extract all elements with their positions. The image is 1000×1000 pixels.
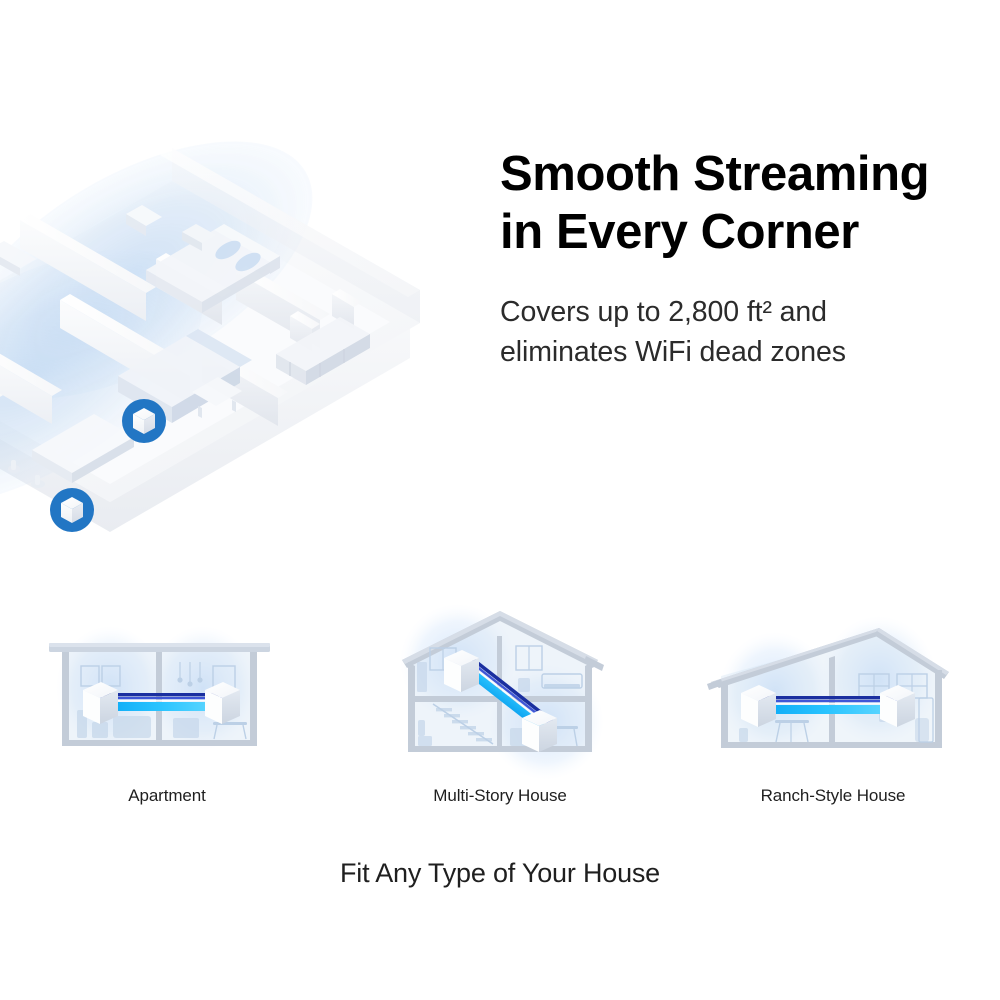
mesh-unit xyxy=(444,650,479,692)
mesh-unit xyxy=(741,685,776,727)
ranch-style-illustration xyxy=(683,600,983,780)
floor-plan-illustration xyxy=(0,150,500,490)
mesh-unit xyxy=(83,682,118,724)
hero-section: Smooth Streaming in Every Corner Covers … xyxy=(0,0,1000,500)
mesh-unit xyxy=(880,685,915,727)
house-type-label: Apartment xyxy=(128,786,206,806)
mesh-unit-badge xyxy=(122,399,166,443)
hero-title: Smooth Streaming in Every Corner xyxy=(500,146,980,262)
hero-text-block: Smooth Streaming in Every Corner Covers … xyxy=(500,146,980,373)
house-type-label: Ranch-Style House xyxy=(761,786,906,806)
house-type-card-multi-story: Multi-Story House xyxy=(334,600,667,806)
hero-subtitle: Covers up to 2,800 ft² and eliminates Wi… xyxy=(500,292,980,373)
mesh-link-beam xyxy=(759,696,897,714)
house-type-card-ranch-style: Ranch-Style House xyxy=(667,600,1000,806)
footer-caption: Fit Any Type of Your House xyxy=(0,858,1000,889)
mesh-unit xyxy=(522,710,557,752)
house-type-card-apartment: Apartment xyxy=(1,600,334,806)
house-type-label: Multi-Story House xyxy=(433,786,566,806)
page-root: Smooth Streaming in Every Corner Covers … xyxy=(0,0,1000,1000)
multi-story-illustration xyxy=(350,600,650,780)
house-types-section: Apartment xyxy=(0,600,1000,840)
mesh-link-beam xyxy=(100,693,222,711)
mesh-unit xyxy=(205,682,240,724)
apartment-illustration xyxy=(17,600,317,780)
mesh-unit-badge xyxy=(50,488,94,532)
